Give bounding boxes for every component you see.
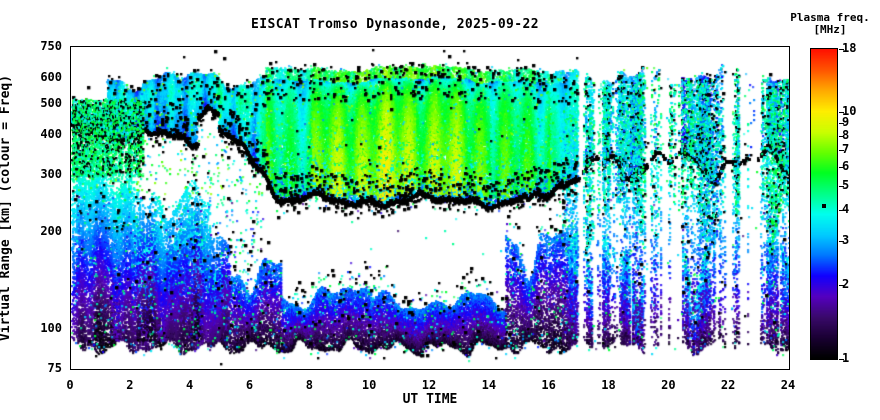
y-axis-tick [789, 369, 790, 370]
x-axis-tick [71, 369, 72, 370]
y-axis-label: 75 [26, 361, 62, 375]
plot-area [70, 46, 790, 370]
x-axis-minor-tick [280, 369, 281, 370]
colorbar-label: 1 [842, 351, 849, 365]
y-axis-tick [70, 104, 71, 105]
x-axis-label: 2 [126, 378, 133, 392]
x-axis-minor-tick [699, 369, 700, 370]
x-axis-minor-tick [639, 369, 640, 370]
y-axis-tick [789, 175, 790, 176]
y-axis-tick [789, 329, 790, 330]
x-axis-label: 20 [661, 378, 675, 392]
x-axis-minor-tick [280, 46, 281, 47]
y-axis-tick [70, 47, 71, 48]
x-axis-minor-tick [400, 46, 401, 47]
x-axis-minor-tick [340, 46, 341, 47]
x-axis-tick [251, 46, 252, 47]
y-axis-minor-tick [70, 201, 71, 202]
x-axis-tick [490, 369, 491, 370]
y-axis-minor-tick [70, 360, 71, 361]
x-axis-tick [131, 46, 132, 47]
y-axis-minor-tick [70, 272, 71, 273]
x-axis-label: 24 [781, 378, 795, 392]
x-axis-tick [789, 369, 790, 370]
x-axis-tick [430, 46, 431, 47]
colorbar-marker-dot [822, 204, 826, 208]
x-axis-tick [191, 46, 192, 47]
x-axis-minor-tick [460, 369, 461, 370]
x-axis-minor-tick [520, 46, 521, 47]
x-axis-tick [610, 46, 611, 47]
y-axis-label: 200 [26, 224, 62, 238]
x-axis-minor-tick [101, 46, 102, 47]
x-axis-tick [251, 369, 252, 370]
x-axis-tick [71, 46, 72, 47]
x-axis-tick [131, 369, 132, 370]
y-axis-title: Virtual Range [km] (colour = Freq) [0, 46, 14, 370]
y-axis-label: 750 [26, 39, 62, 53]
x-axis-label: 14 [482, 378, 496, 392]
x-axis-label: 18 [601, 378, 615, 392]
x-axis-minor-tick [400, 369, 401, 370]
x-axis-label: 22 [721, 378, 735, 392]
x-axis-tick [310, 369, 311, 370]
y-axis-minor-tick [789, 57, 790, 58]
y-axis-minor-tick [70, 344, 71, 345]
y-axis-minor-tick [789, 118, 790, 119]
y-axis-label: 600 [26, 70, 62, 84]
y-axis-minor-tick [789, 90, 790, 91]
x-axis-minor-tick [699, 46, 700, 47]
y-axis-minor-tick [789, 360, 790, 361]
colorbar-label: 2 [842, 277, 849, 291]
y-axis-tick [789, 232, 790, 233]
x-axis-tick [729, 369, 730, 370]
x-axis-minor-tick [460, 46, 461, 47]
y-axis-tick [789, 135, 790, 136]
y-axis-minor-tick [789, 67, 790, 68]
x-axis-minor-tick [580, 369, 581, 370]
x-axis-tick [610, 369, 611, 370]
x-axis-minor-tick [759, 369, 760, 370]
x-axis-title: UT TIME [70, 392, 790, 407]
x-axis-tick [370, 369, 371, 370]
colorbar-label: 4 [842, 202, 849, 216]
colorbar-label: 8 [842, 128, 849, 142]
y-axis-minor-tick [70, 90, 71, 91]
y-axis-tick [70, 329, 71, 330]
colorbar-label: 7 [842, 142, 849, 156]
colorbar-label: 18 [842, 41, 856, 55]
colorbar-label: 10 [842, 104, 856, 118]
colorbar-label: 3 [842, 233, 849, 247]
x-axis-minor-tick [161, 46, 162, 47]
y-axis-minor-tick [70, 118, 71, 119]
x-axis-tick [669, 369, 670, 370]
x-axis-tick [729, 46, 730, 47]
x-axis-minor-tick [639, 46, 640, 47]
y-axis-minor-tick [70, 154, 71, 155]
y-axis-minor-tick [789, 201, 790, 202]
x-axis-label: 6 [246, 378, 253, 392]
x-axis-label: 4 [186, 378, 193, 392]
x-axis-label: 0 [66, 378, 73, 392]
x-axis-tick [550, 369, 551, 370]
x-axis-label: 10 [362, 378, 376, 392]
x-axis-tick [789, 46, 790, 47]
y-axis-minor-tick [789, 344, 790, 345]
x-axis-label: 16 [541, 378, 555, 392]
y-axis-tick [70, 78, 71, 79]
x-axis-minor-tick [520, 369, 521, 370]
y-axis-tick [70, 369, 71, 370]
colorbar-label: 5 [842, 178, 849, 192]
y-axis-label: 400 [26, 127, 62, 141]
x-axis-tick [310, 46, 311, 47]
y-axis-tick [789, 47, 790, 48]
y-axis-tick [70, 135, 71, 136]
x-axis-tick [430, 369, 431, 370]
y-axis-minor-tick [70, 57, 71, 58]
x-axis-label: 8 [306, 378, 313, 392]
x-axis-minor-tick [221, 46, 222, 47]
x-axis-tick [191, 369, 192, 370]
y-axis-minor-tick [789, 154, 790, 155]
x-axis-tick [370, 46, 371, 47]
y-axis-minor-tick [789, 272, 790, 273]
y-axis-tick [70, 175, 71, 176]
colorbar-title: Plasma freq. [MHz] [780, 12, 880, 36]
x-axis-label: 12 [422, 378, 436, 392]
x-axis-tick [550, 46, 551, 47]
y-axis-label: 300 [26, 167, 62, 181]
y-axis-minor-tick [70, 67, 71, 68]
x-axis-minor-tick [580, 46, 581, 47]
x-axis-tick [490, 46, 491, 47]
x-axis-minor-tick [161, 369, 162, 370]
colorbar-label: 6 [842, 159, 849, 173]
y-axis-tick [789, 104, 790, 105]
x-axis-minor-tick [340, 369, 341, 370]
y-axis-label: 100 [26, 321, 62, 335]
y-axis-label: 500 [26, 96, 62, 110]
ionogram-figure: EISCAT Tromso Dynasonde, 2025-09-22 Virt… [0, 0, 880, 420]
y-axis-tick [70, 232, 71, 233]
x-axis-minor-tick [221, 369, 222, 370]
x-axis-minor-tick [759, 46, 760, 47]
ionogram-raster [71, 47, 789, 369]
y-axis-tick [789, 78, 790, 79]
x-axis-tick [669, 46, 670, 47]
page-title: EISCAT Tromso Dynasonde, 2025-09-22 [0, 17, 790, 32]
colorbar-title-line2: [MHz] [780, 24, 880, 36]
x-axis-minor-tick [101, 369, 102, 370]
